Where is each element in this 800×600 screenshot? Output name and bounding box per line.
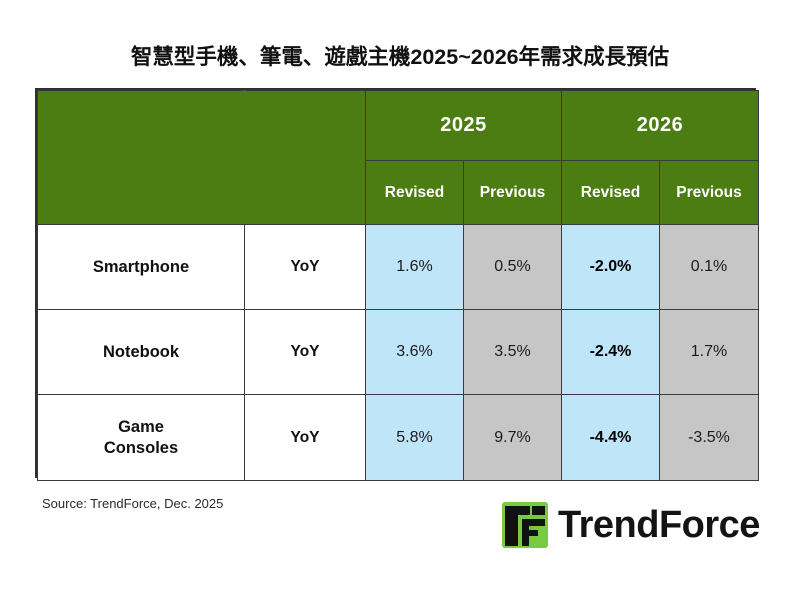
forecast-table: 2025 2026 Revised Previous Revised Previ… [35,88,756,478]
cell-notebook-2025-previous: 3.5% [464,310,562,395]
row-label-smartphone: Smartphone [38,225,245,310]
header-2025-previous: Previous [464,161,562,225]
cell-notebook-2025-revised: 3.6% [366,310,464,395]
cell-notebook-2026-previous: 1.7% [660,310,759,395]
slide-canvas: 智慧型手機、筆電、遊戲主機2025~2026年需求成長預估 2025 2026 [0,0,800,600]
table-row: Notebook YoY 3.6% 3.5% -2.4% 1.7% [38,310,759,395]
header-2026-revised: Revised [562,161,660,225]
row-label-game-consoles-line1: Game [38,417,244,438]
cell-game-consoles-2025-previous: 9.7% [464,395,562,481]
header-corner-metric [245,91,366,225]
row-label-notebook: Notebook [38,310,245,395]
cell-game-consoles-2026-previous: -3.5% [660,395,759,481]
header-year-2026: 2026 [562,91,759,161]
row-label-game-consoles: Game Consoles [38,395,245,481]
page-title: 智慧型手機、筆電、遊戲主機2025~2026年需求成長預估 [35,40,765,71]
cell-game-consoles-2025-revised: 5.8% [366,395,464,481]
cell-smartphone-2026-revised: -2.0% [562,225,660,310]
header-corner-category [38,91,245,225]
cell-game-consoles-2026-revised: -4.4% [562,395,660,481]
row-metric-game-consoles: YoY [245,395,366,481]
table-row: Smartphone YoY 1.6% 0.5% -2.0% 0.1% [38,225,759,310]
table-row: Game Consoles YoY 5.8% 9.7% -4.4% -3.5% [38,395,759,481]
header-2026-previous: Previous [660,161,759,225]
trendforce-logo-mark-icon [500,500,550,550]
cell-notebook-2026-revised: -2.4% [562,310,660,395]
cell-smartphone-2025-previous: 0.5% [464,225,562,310]
header-year-2025: 2025 [366,91,562,161]
row-metric-smartphone: YoY [245,225,366,310]
row-metric-notebook: YoY [245,310,366,395]
header-2025-revised: Revised [366,161,464,225]
trendforce-logo-text: TrendForce [558,506,760,544]
trendforce-logo: TrendForce [500,497,760,553]
row-label-game-consoles-line2: Consoles [38,438,244,459]
header-row-years: 2025 2026 [38,91,759,161]
forecast-table-grid: 2025 2026 Revised Previous Revised Previ… [37,90,759,481]
cell-smartphone-2025-revised: 1.6% [366,225,464,310]
source-note: Source: TrendForce, Dec. 2025 [42,496,223,511]
cell-smartphone-2026-previous: 0.1% [660,225,759,310]
